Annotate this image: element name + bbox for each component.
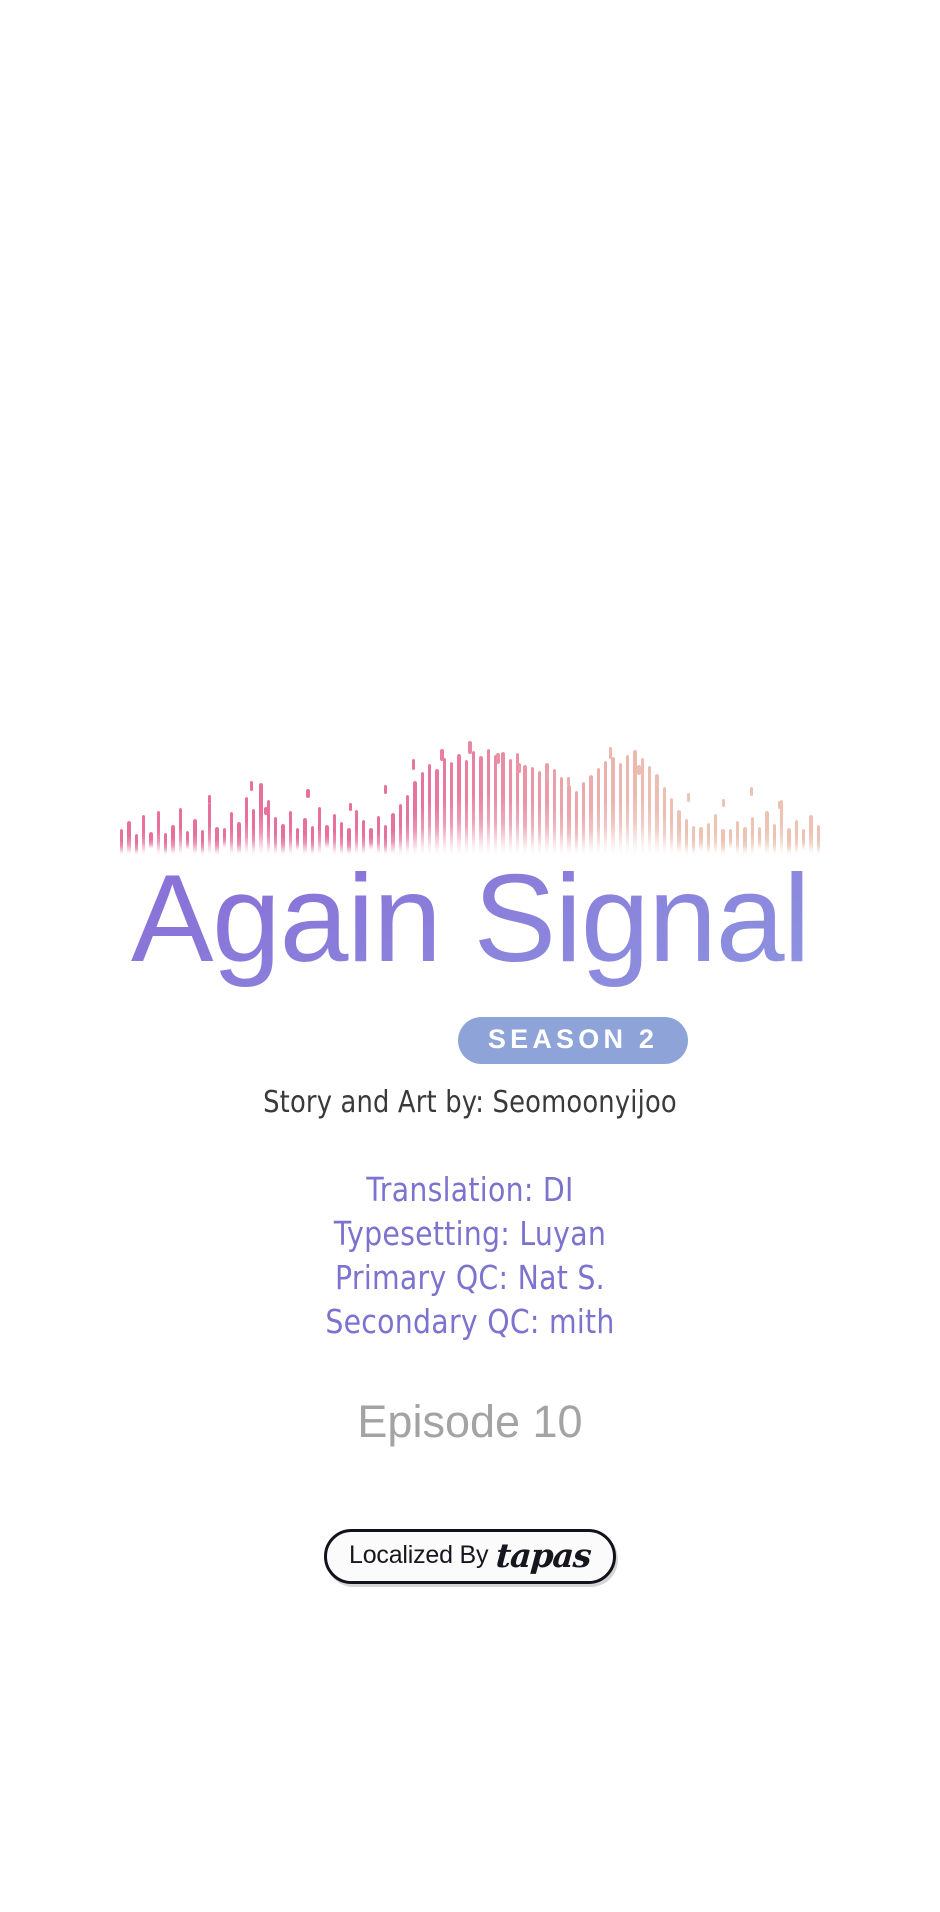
waveform-bar [582,782,585,855]
waveform-bar [487,749,490,855]
waveform-peak-dot [384,785,387,794]
waveform-bar [633,750,636,855]
waveform-peak-dot [440,749,443,761]
staff-credit-line: Typesetting: Luyan [66,1212,874,1256]
waveform-bar [333,814,336,855]
waveform-bar [714,814,717,855]
story-and-art-credit: Story and Art by: Seomoonyijoo [66,1085,874,1120]
waveform-peak-dot [349,803,352,811]
waveform-peak-dot [412,759,415,770]
tapas-wordmark: tapas [495,1539,592,1572]
waveform-bar [142,815,145,855]
waveform-peak-dot [687,793,690,802]
waveform-bar [252,809,255,855]
waveform-bar [245,797,248,855]
waveform-bar [531,767,534,855]
waveform-bar [259,783,262,855]
waveform-bar [501,752,504,855]
waveform-bar [399,804,402,855]
waveform-bar [157,811,160,855]
episode-label: Episode 10 [0,1396,940,1448]
waveform-peak-dot [637,765,640,775]
waveform-bar [663,787,666,855]
waveform-bar [575,791,578,855]
staff-credit-line: Translation: DI [66,1168,874,1212]
waveform-bar [296,828,299,851]
title-card-page: Again Signal SEASON 2 Story and Art by: … [0,0,940,1912]
waveform-bar [677,810,680,855]
waveform-bar [179,808,182,855]
waveform-peak-dot [778,801,781,809]
waveform-peak-dot [496,753,499,764]
waveform-peak-dot [250,781,253,791]
localized-by-tapas-badge: Localized By tapas [324,1529,616,1584]
waveform-bar [589,775,592,855]
waveform-bar [318,807,321,855]
waveform-bars [118,737,822,855]
localized-by-label: Localized By [349,1543,488,1568]
waveform-peak-dot [722,799,725,807]
waveform-peak-dot [468,741,471,754]
staff-credit-line: Primary QC: Nat S. [66,1256,874,1300]
waveform-bar [428,764,431,855]
waveform-bar [648,766,651,855]
waveform-bar [406,795,409,855]
waveform-bar [809,815,812,855]
waveform-peak-dot [208,795,211,804]
waveform-bar [465,760,468,855]
waveform-bar [208,803,211,855]
waveform-bar [567,785,570,855]
waveform-peak-dot [264,807,267,815]
waveform-bar [369,828,372,850]
waveform-bar [472,751,475,855]
waveform-bar [817,825,820,855]
waveform-peak-dot [546,771,549,781]
waveform-bar [641,758,644,855]
waveform-bar [604,761,607,855]
waveform-bar [325,825,328,849]
staff-credit-line: Secondary QC: mith [66,1300,874,1344]
waveform-bar [413,781,416,855]
waveform-peak-dot [750,787,753,796]
waveform-bar [479,756,482,855]
waveform-bar [450,762,453,855]
waveform-bar [457,754,460,855]
waveform-bar [670,798,673,855]
series-title: Again Signal [0,853,940,987]
waveform-bar [765,811,768,855]
season-badge-row: SEASON 2 [0,1017,940,1064]
waveform-peak-dot [567,777,570,786]
waveform-bar [560,777,563,855]
waveform-bar [186,831,189,850]
waveform-bar [655,774,658,855]
waveform-bar [421,772,424,855]
waveform-peak-dot [609,747,612,759]
waveform-bar [538,771,541,855]
waveform-peak-dot [518,763,521,773]
waveform-decoration [118,737,822,855]
waveform-bar [509,759,512,855]
waveform-bar [230,812,233,855]
waveform-bar [443,758,446,855]
waveform-bar [494,755,497,855]
waveform-bar [619,763,622,855]
waveform-bar [289,811,292,855]
waveform-bar [149,832,152,849]
waveform-bar [523,765,526,855]
waveform-bar [120,829,123,855]
waveform-bar [626,755,629,855]
season-badge: SEASON 2 [458,1017,688,1064]
waveform-bar [758,827,761,850]
waveform-bar [611,757,614,855]
waveform-bar [355,810,358,855]
waveform-bar [597,768,600,855]
waveform-bar [553,769,556,855]
waveform-bar [699,827,702,851]
waveform-bar [729,829,732,849]
waveform-bar [391,813,394,855]
waveform-bar [223,828,226,848]
waveform-bar [802,829,805,851]
waveform-bar [435,769,438,855]
staff-credits-block: Translation: DITypesetting: LuyanPrimary… [0,1168,940,1344]
localization-badge-row: Localized By tapas [0,1529,940,1584]
waveform-peak-dot [306,789,309,798]
